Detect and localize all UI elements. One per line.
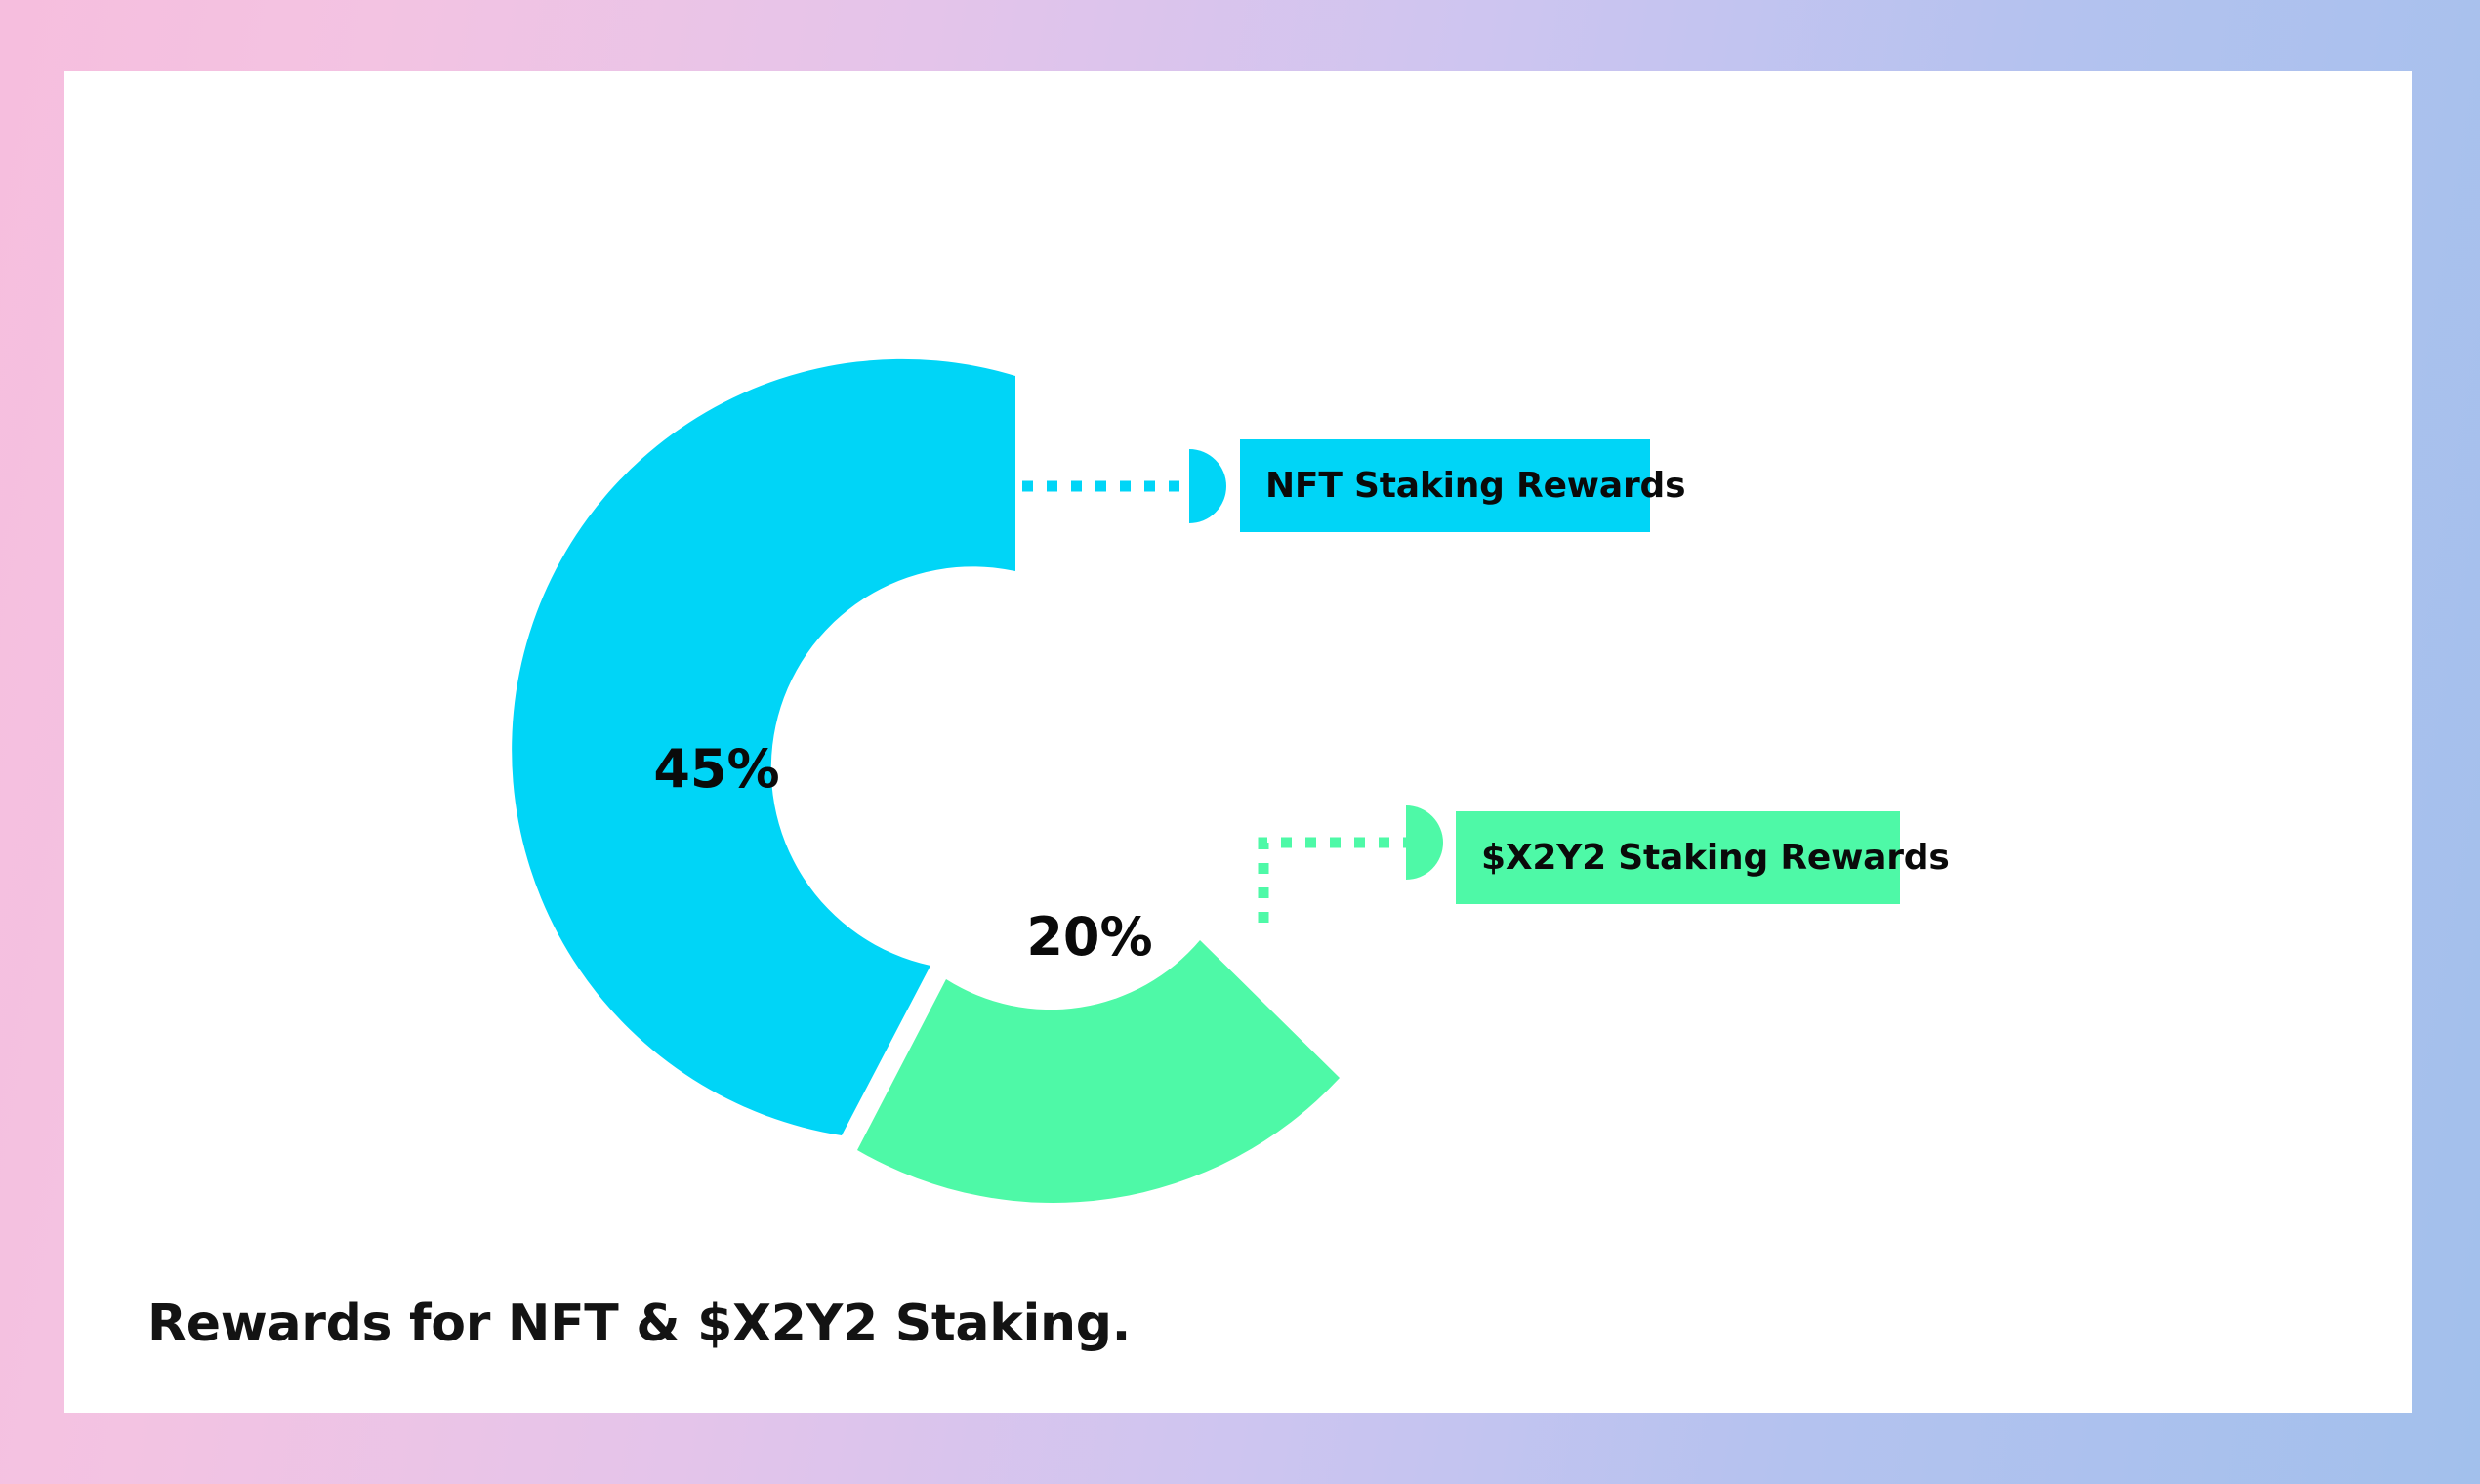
chart-card: 45% 20% NFT Staking Rewards $X2Y2 Stakin… (64, 71, 2412, 1413)
connector-cap-x2y2 (1406, 805, 1443, 880)
donut-chart: 45% 20% (64, 71, 2412, 1413)
legend-item-nft-staking-rewards[interactable]: NFT Staking Rewards (1240, 439, 1650, 532)
slice-value-20: 20% (1026, 906, 1152, 968)
legend-item-x2y2-staking-rewards[interactable]: $X2Y2 Staking Rewards (1456, 811, 1900, 904)
legend-label-nft: NFT Staking Rewards (1265, 466, 1685, 506)
pie-slice-x2y2-staking-rewards[interactable] (857, 940, 1340, 1203)
slice-value-45: 45% (653, 738, 779, 800)
connector-line-x2y2 (1263, 843, 1406, 923)
connector-cap-nft (1189, 449, 1226, 523)
chart-caption: Rewards for NFT & $X2Y2 Staking. (147, 1295, 1131, 1353)
legend-label-x2y2: $X2Y2 Staking Rewards (1481, 838, 1950, 878)
